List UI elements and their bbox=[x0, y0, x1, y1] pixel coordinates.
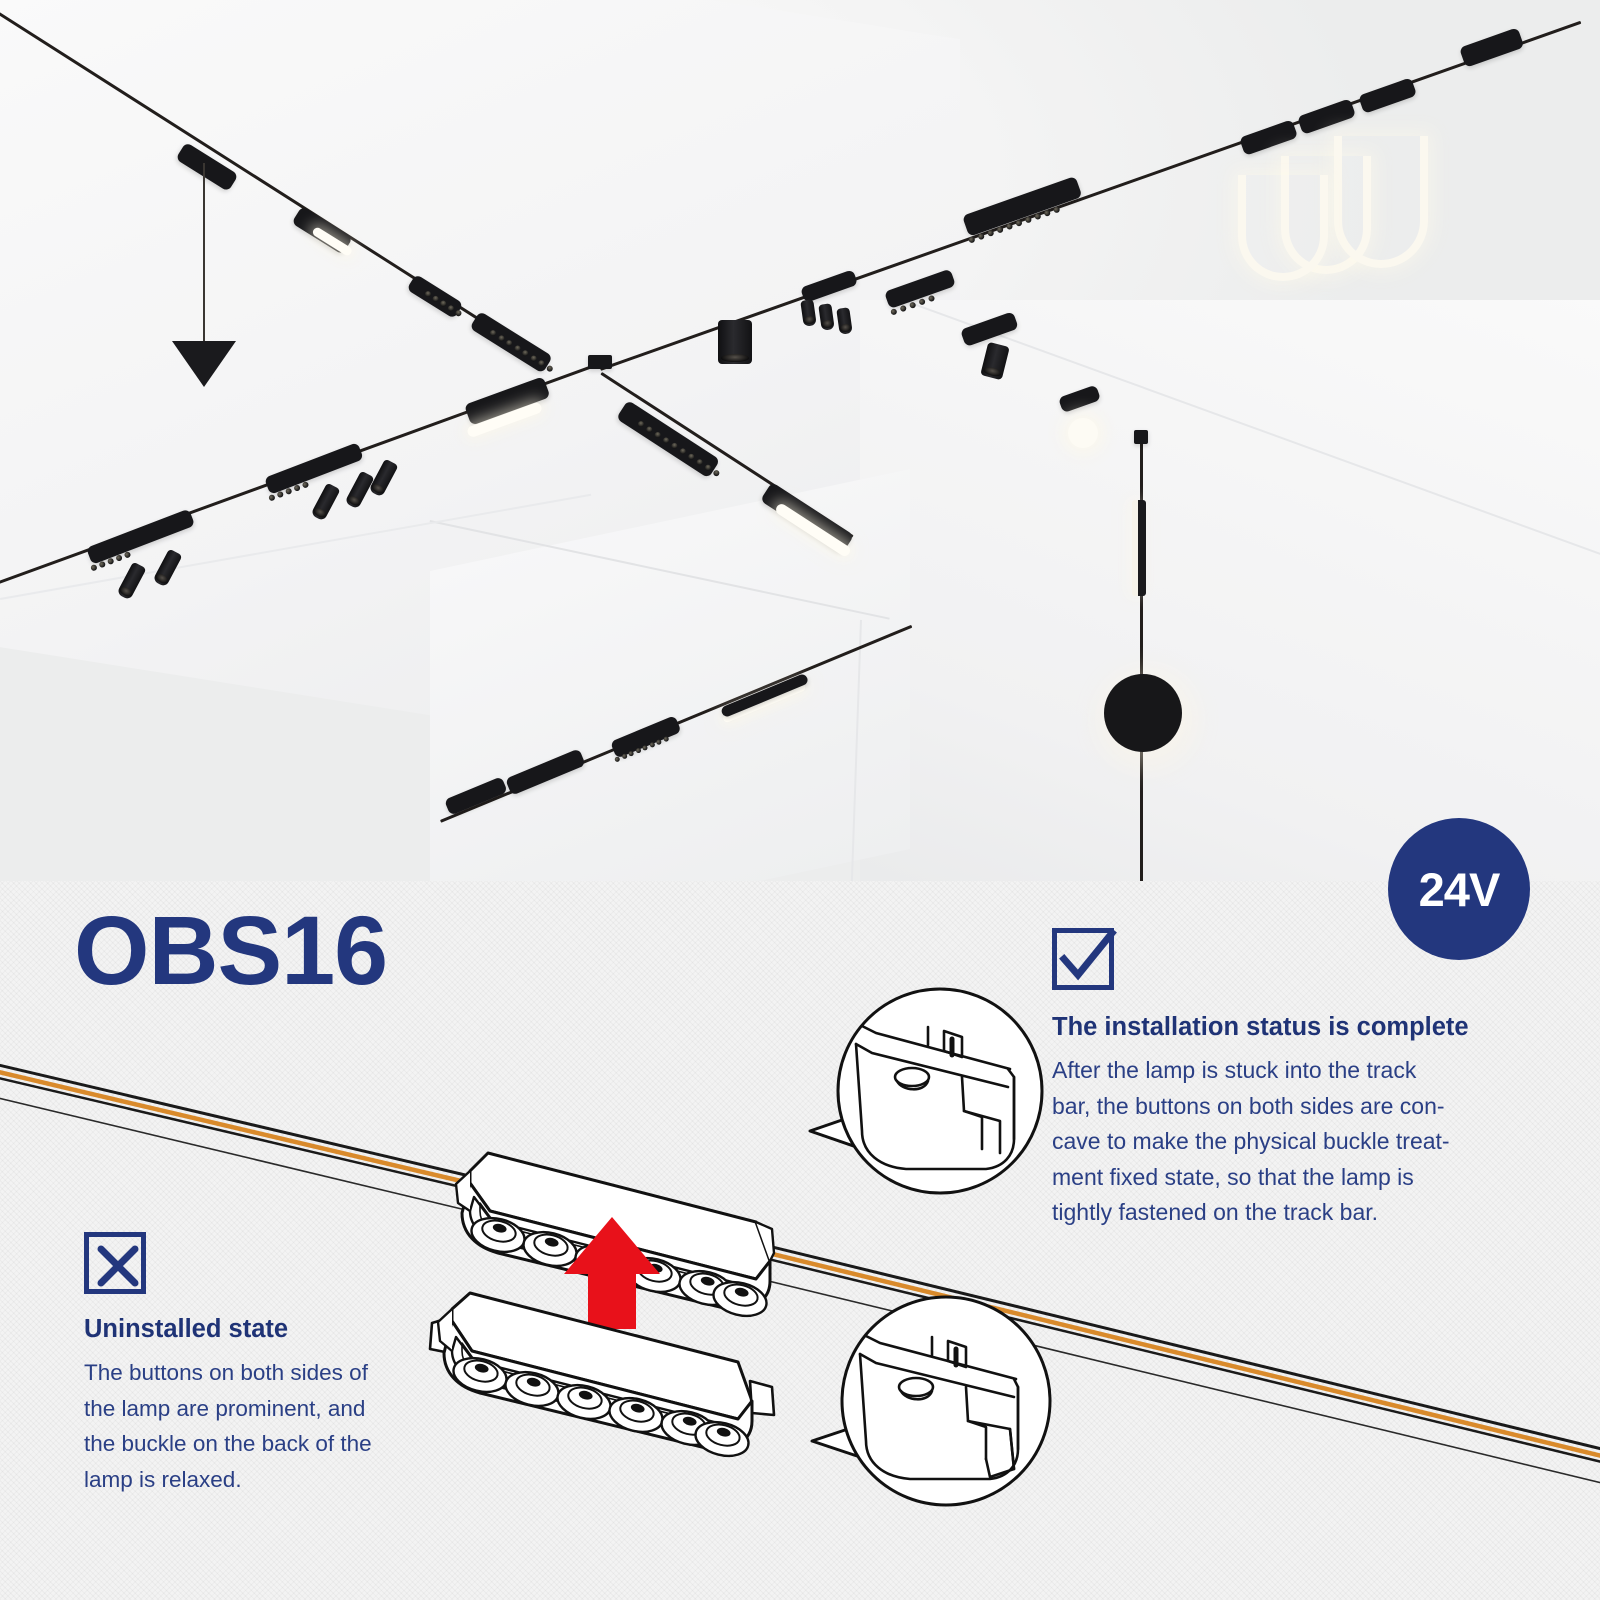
installed-body-line: tightly fastened on the track bar. bbox=[1052, 1195, 1472, 1231]
installed-body-line: bar, the buttons on both sides are con- bbox=[1052, 1089, 1472, 1125]
installed-state-title: The installation status is complete bbox=[1052, 1013, 1469, 1042]
flexible-tube-light-3 bbox=[1238, 175, 1328, 281]
uninstalled-body-line: the buckle on the back of the bbox=[84, 1426, 404, 1462]
installed-body-line: cave to make the physical buckle treat- bbox=[1052, 1124, 1472, 1160]
pendant-cone-shade bbox=[172, 341, 236, 387]
product-infographic: OBS16 24V The installation status is com… bbox=[0, 0, 1600, 1600]
checkbox-crossed-icon bbox=[84, 1232, 146, 1294]
installed-state-body: After the lamp is stuck into the track b… bbox=[1052, 1053, 1472, 1231]
product-photo-scene bbox=[0, 0, 1600, 881]
voltage-badge: 24V bbox=[1388, 818, 1530, 960]
uninstalled-body-line: the lamp are prominent, and bbox=[84, 1391, 404, 1427]
callout-uninstalled bbox=[812, 1297, 1050, 1505]
sphere-bulb-light bbox=[1068, 418, 1098, 448]
tube-mount-4 bbox=[1459, 27, 1524, 67]
checkbox-checked-icon bbox=[1052, 928, 1114, 990]
pendant-suspension-wire bbox=[203, 163, 205, 348]
installed-body-line: After the lamp is stuck into the track bbox=[1052, 1053, 1472, 1089]
wall-disc-lamp bbox=[1104, 674, 1182, 752]
uninstalled-body-line: lamp is relaxed. bbox=[84, 1462, 404, 1498]
flexible-tube-light-2 bbox=[1334, 136, 1428, 268]
cylinder-downlight bbox=[718, 320, 752, 364]
voltage-badge-label: 24V bbox=[1419, 862, 1500, 917]
callout-installed bbox=[810, 989, 1042, 1193]
wall-plane-right bbox=[860, 300, 1600, 881]
product-model-title: OBS16 bbox=[74, 902, 387, 999]
uninstalled-state-body: The buttons on both sides of the lamp ar… bbox=[84, 1355, 404, 1497]
track-corner-connector bbox=[1134, 430, 1148, 444]
track-x-junction bbox=[588, 355, 612, 369]
uninstalled-body-line: The buttons on both sides of bbox=[84, 1355, 404, 1391]
tube-mount-2 bbox=[1297, 98, 1356, 135]
installed-body-line: ment fixed state, so that the lamp is bbox=[1052, 1160, 1472, 1196]
tube-mount-3 bbox=[1358, 77, 1417, 114]
wall-linear-lamp bbox=[1132, 500, 1146, 596]
uninstalled-state-title: Uninstalled state bbox=[84, 1315, 288, 1344]
tube-mount-1 bbox=[1239, 119, 1298, 156]
